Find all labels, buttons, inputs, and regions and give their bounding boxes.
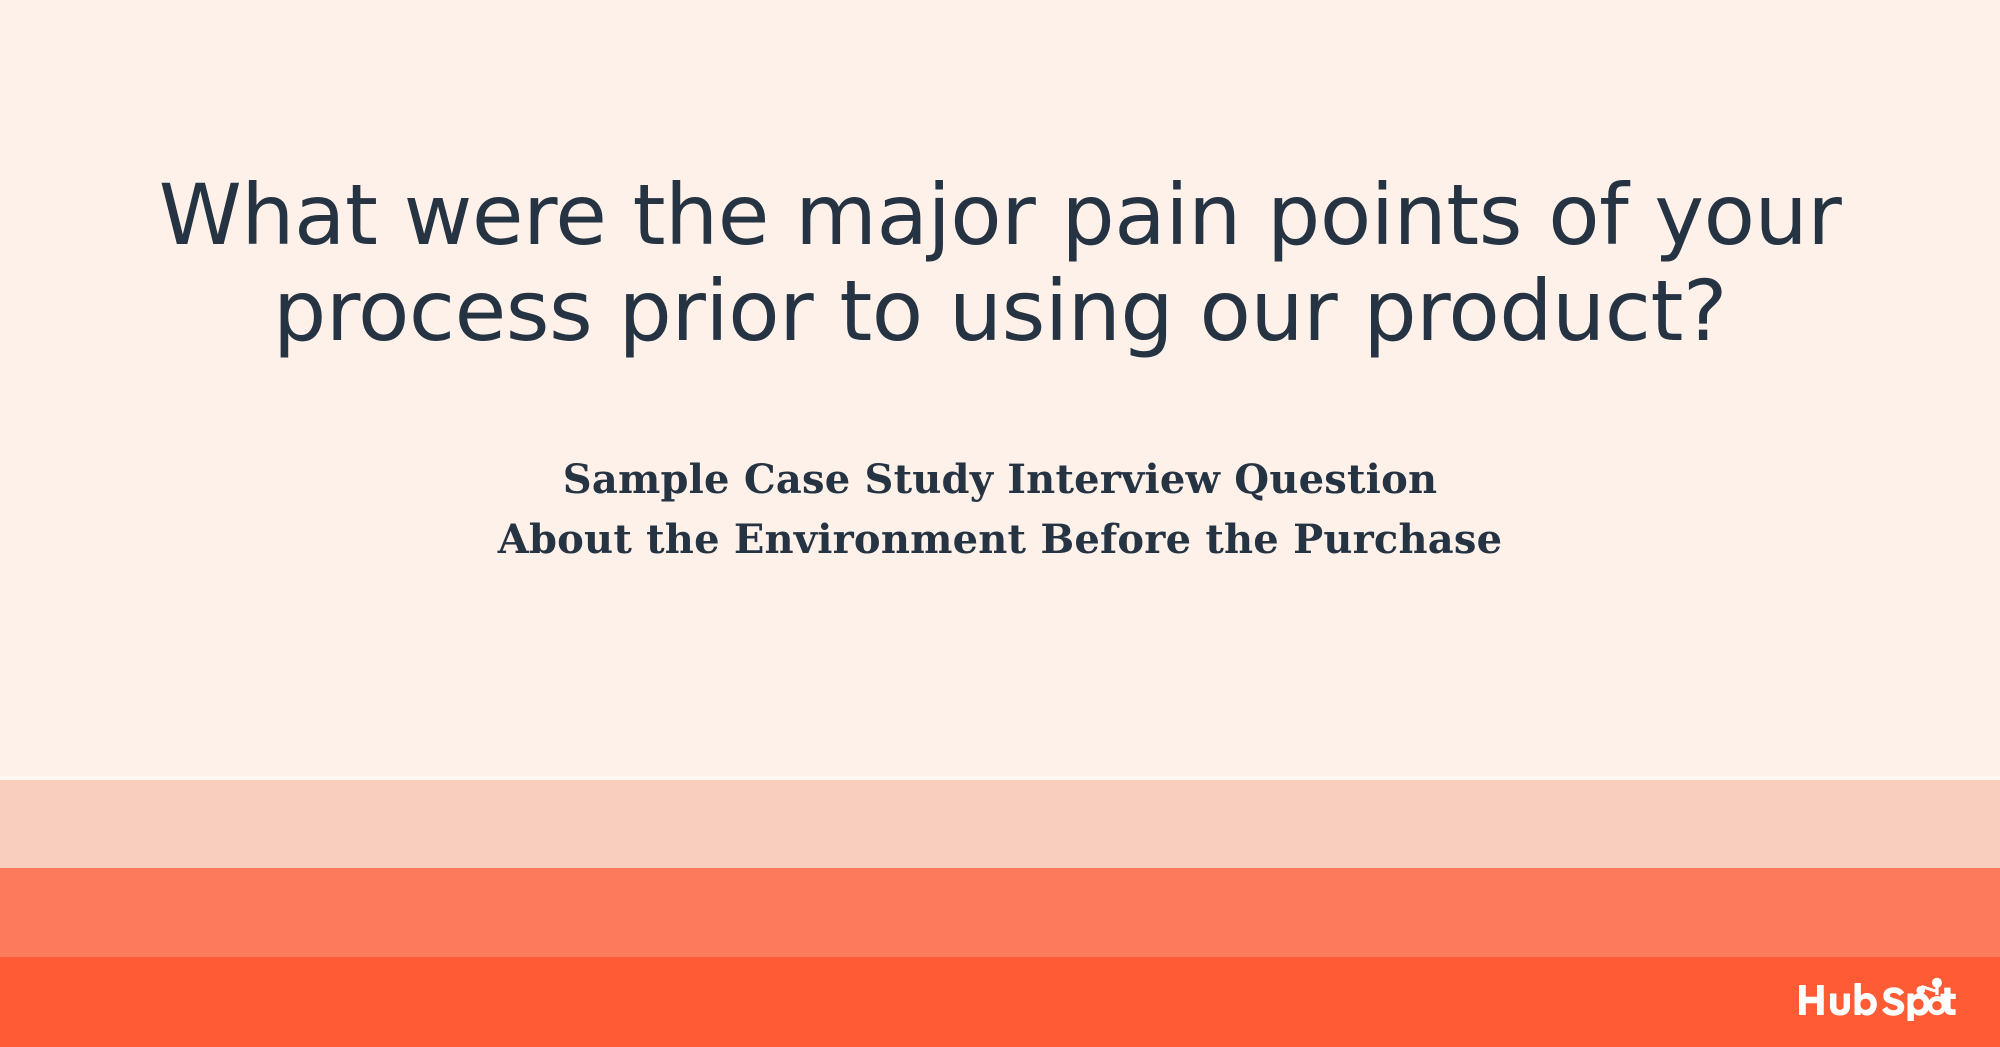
hubspot-logo	[1796, 977, 1964, 1021]
presentation-slide: What were the major pain points of your …	[0, 0, 2000, 1047]
slide-title: What were the major pain points of your …	[39, 168, 1961, 360]
salmon-band	[0, 868, 2000, 957]
slide-subtitle-line-2: About the Environment Before the Purchas…	[498, 510, 1503, 570]
peach-band	[0, 780, 2000, 868]
orange-band	[0, 957, 2000, 1047]
slide-subtitle: Sample Case Study Interview Question Abo…	[498, 450, 1503, 570]
slide-title-line-2: process prior to using our product?	[159, 264, 1841, 360]
slide-content: What were the major pain points of your …	[0, 0, 2000, 779]
slide-subtitle-line-1: Sample Case Study Interview Question	[498, 450, 1503, 510]
slide-title-line-1: What were the major pain points of your	[159, 168, 1841, 264]
